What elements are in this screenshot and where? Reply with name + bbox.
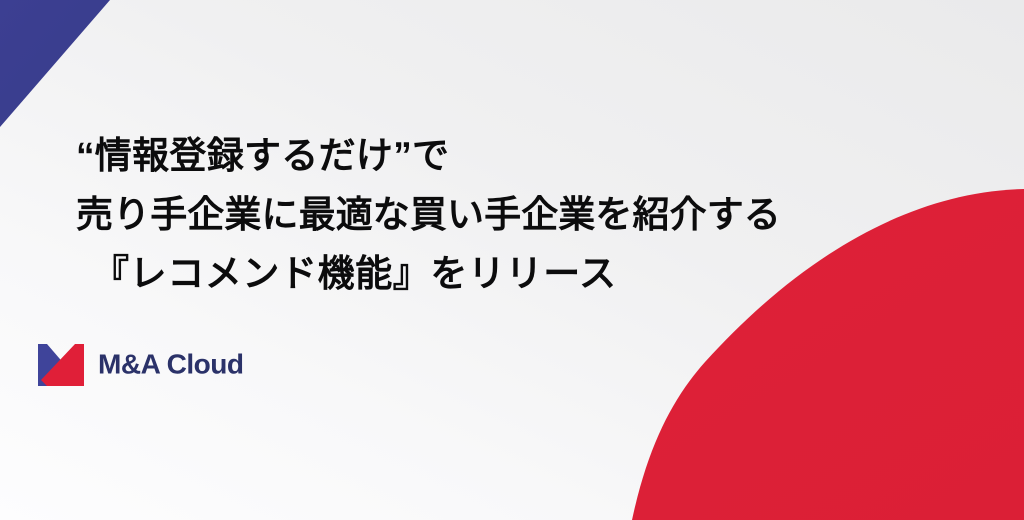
ma-cloud-wordmark: M&A Cloud xyxy=(98,348,294,382)
headline-line-3: 『レコメンド機能』をリリース xyxy=(76,244,781,303)
press-release-banner: “情報登録するだけ”で 売り手企業に最適な買い手企業を紹介する 『レコメンド機能… xyxy=(0,0,1024,520)
banner-content: “情報登録するだけ”で 売り手企業に最適な買い手企業を紹介する 『レコメンド機能… xyxy=(0,0,1024,520)
ma-cloud-logo-mark-icon xyxy=(38,344,84,386)
ma-cloud-wordmark-text: M&A Cloud xyxy=(98,349,243,380)
ma-cloud-logo: M&A Cloud xyxy=(38,344,294,386)
headline-line-2: 売り手企業に最適な買い手企業を紹介する xyxy=(76,185,781,244)
page-title: “情報登録するだけ”で 売り手企業に最適な買い手企業を紹介する 『レコメンド機能… xyxy=(76,126,781,303)
headline-line-1: “情報登録するだけ”で xyxy=(76,126,781,185)
